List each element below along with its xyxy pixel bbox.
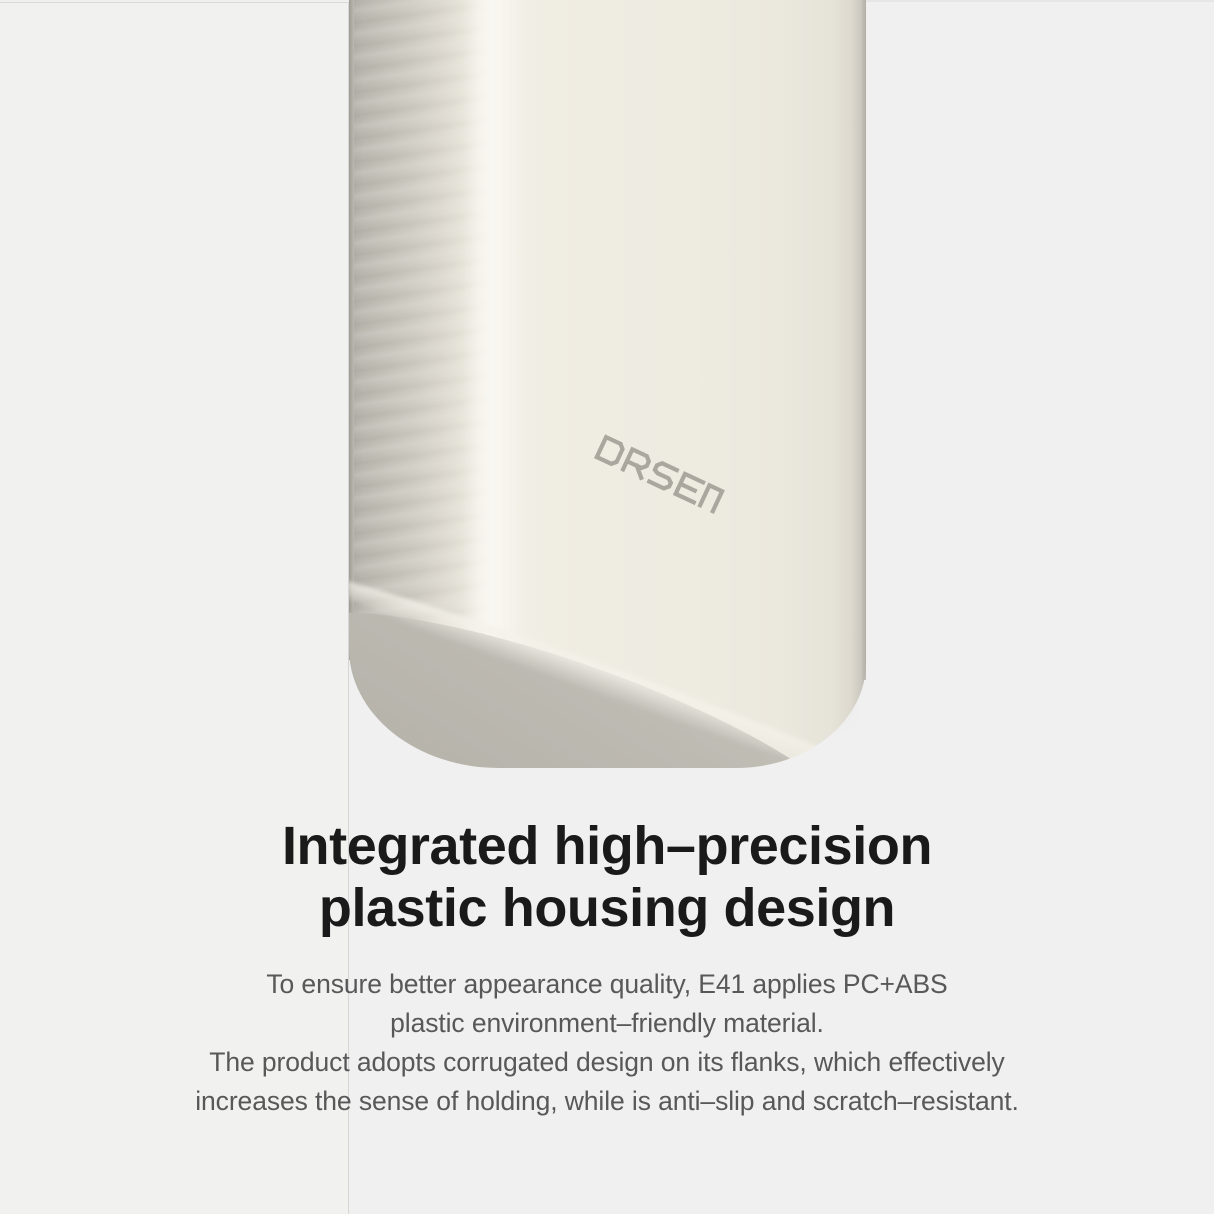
product-feature-page: Integrated high–precision plastic housin…	[0, 0, 1214, 1214]
body-copy-line-3: The product adopts corrugated design on …	[0, 1043, 1214, 1082]
product-bottom-endcap	[349, 520, 866, 768]
body-copy-line-2: plastic environment–friendly material.	[0, 1004, 1214, 1043]
headline-line-1: Integrated high–precision	[0, 815, 1214, 877]
body-copy: To ensure better appearance quality, E41…	[0, 965, 1214, 1121]
marketing-copy-block: Integrated high–precision plastic housin…	[0, 815, 1214, 1121]
body-copy-line-1: To ensure better appearance quality, E41…	[0, 965, 1214, 1004]
headline: Integrated high–precision plastic housin…	[0, 815, 1214, 939]
headline-line-2: plastic housing design	[0, 877, 1214, 939]
product-image-powerbank	[349, 0, 866, 768]
body-copy-line-4: increases the sense of holding, while is…	[0, 1082, 1214, 1121]
